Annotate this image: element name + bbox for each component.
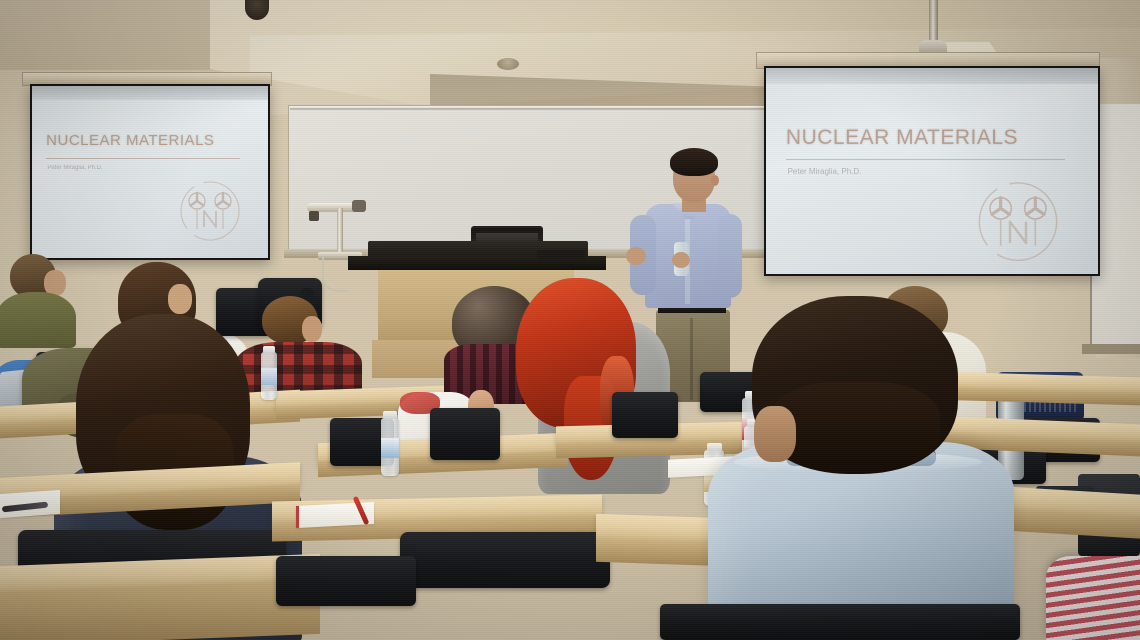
inl-radiation-emblem-icon xyxy=(969,179,1067,267)
document-camera-post xyxy=(337,208,343,256)
side-whiteboard-rail xyxy=(1082,344,1140,354)
slide-title-right: NUCLEAR MATERIALS xyxy=(786,126,1018,150)
ceiling-vent-icon xyxy=(497,58,519,70)
presenter-left-hand xyxy=(626,247,646,265)
podium-shelf xyxy=(537,250,585,260)
slide-subtitle-right: Peter Miraglia, Ph.D. xyxy=(788,167,862,176)
chair xyxy=(660,604,1020,640)
document-camera-cable xyxy=(322,256,348,292)
lecture-hall-photo: NUCLEAR MATERIALS Peter Miraglia, Ph.D. … xyxy=(0,0,1140,640)
student-striped-shirt xyxy=(1046,556,1140,640)
slide-divider-left xyxy=(46,158,240,159)
screen-right-topband xyxy=(766,68,1098,84)
document-camera-lens-icon xyxy=(309,211,319,221)
slide-divider-right xyxy=(786,159,1065,160)
presenter-right-arm xyxy=(718,214,742,298)
student-chambray-shirt xyxy=(690,296,1030,640)
chair xyxy=(400,532,610,588)
presenter-ear xyxy=(711,175,719,186)
chair xyxy=(612,392,678,438)
student-ponytail-white xyxy=(118,262,208,322)
neck-skin xyxy=(754,406,796,462)
screen-right-surface: NUCLEAR MATERIALS Peter Miraglia, Ph.D. xyxy=(766,68,1098,274)
document-camera-head xyxy=(352,200,366,212)
screen-left-surface: NUCLEAR MATERIALS Peter Miraglia, Ph.D. xyxy=(32,86,268,258)
chair xyxy=(276,556,416,606)
inl-radiation-emblem-icon xyxy=(174,179,246,245)
projection-screen-right: NUCLEAR MATERIALS Peter Miraglia, Ph.D. xyxy=(764,66,1100,276)
projection-screen-left: NUCLEAR MATERIALS Peter Miraglia, Ph.D. xyxy=(30,84,270,260)
slide-title-left: NUCLEAR MATERIALS xyxy=(46,132,214,149)
screen-left-topband xyxy=(32,86,268,100)
presenter-hair xyxy=(670,148,718,176)
presenter-right-hand xyxy=(672,252,690,268)
water-bottle xyxy=(381,418,399,476)
chair xyxy=(430,408,500,460)
slide-subtitle-left: Peter Miraglia, Ph.D. xyxy=(47,165,102,171)
